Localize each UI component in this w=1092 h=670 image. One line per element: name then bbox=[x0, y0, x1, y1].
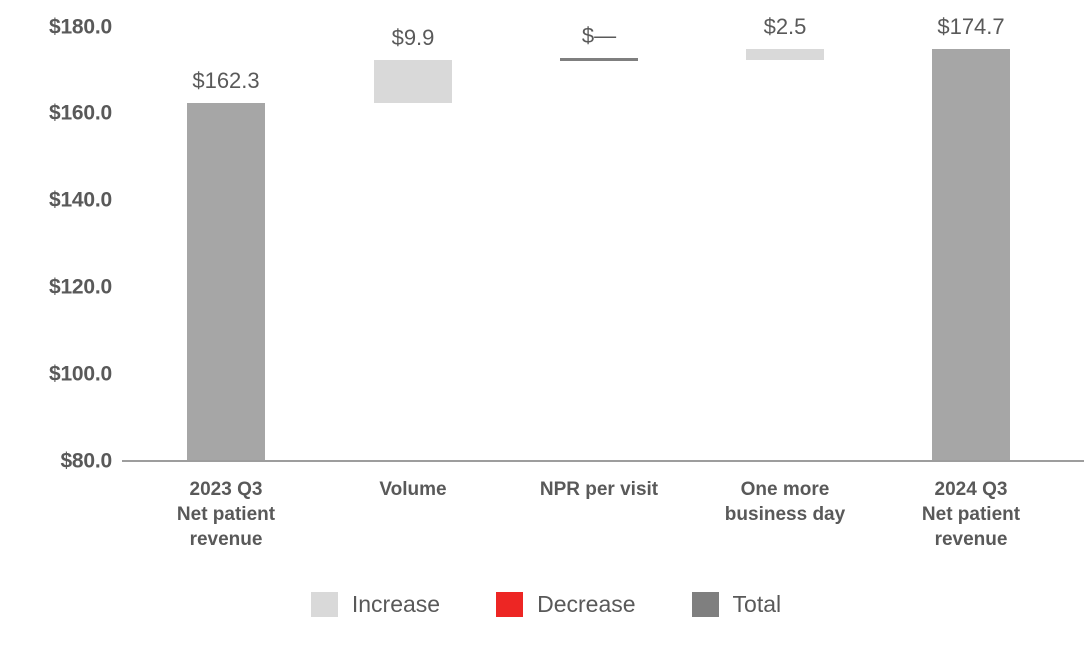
legend-item-total[interactable]: Total bbox=[692, 592, 782, 617]
legend-label-total: Total bbox=[733, 593, 782, 616]
bar-increase-volume[interactable] bbox=[374, 60, 452, 103]
bar-value-label-2023-q3: $162.3 bbox=[192, 70, 259, 92]
bar-value-label-2024-q3: $174.7 bbox=[937, 16, 1004, 38]
y-axis-tick-160: $160.0 bbox=[0, 103, 112, 124]
chart-legend: Increase Decrease Total bbox=[0, 592, 1092, 617]
bar-increase-one-more-business-day[interactable] bbox=[746, 49, 824, 60]
y-axis-tick-100: $100.0 bbox=[0, 364, 112, 385]
legend-swatch-increase-icon bbox=[311, 592, 338, 617]
waterfall-chart: $180.0 $160.0 $140.0 $120.0 $100.0 $80.0… bbox=[0, 0, 1092, 670]
y-axis-tick-140: $140.0 bbox=[0, 190, 112, 211]
x-axis-label-npr-per-visit: NPR per visit bbox=[499, 477, 699, 502]
legend-swatch-decrease-icon bbox=[496, 592, 523, 617]
legend-label-increase: Increase bbox=[352, 593, 440, 616]
legend-label-decrease: Decrease bbox=[537, 593, 635, 616]
bar-value-label-one-more-business-day: $2.5 bbox=[764, 16, 807, 38]
bar-zero-npr-per-visit[interactable] bbox=[560, 58, 638, 61]
x-axis-label-2023-q3: 2023 Q3 Net patient revenue bbox=[131, 477, 321, 552]
bar-value-label-npr-per-visit: $— bbox=[582, 25, 616, 47]
plot-area: $162.3 $9.9 $— $2.5 $174.7 bbox=[122, 0, 1090, 461]
bar-total-2024-q3[interactable] bbox=[932, 49, 1010, 460]
bar-total-2023-q3[interactable] bbox=[187, 103, 265, 460]
y-axis-tick-120: $120.0 bbox=[0, 277, 112, 298]
legend-item-decrease[interactable]: Decrease bbox=[496, 592, 635, 617]
y-axis-tick-180: $180.0 bbox=[0, 17, 112, 38]
x-axis-label-one-more-business-day: One more business day bbox=[685, 477, 885, 527]
y-axis-tick-80: $80.0 bbox=[0, 451, 112, 472]
x-axis-label-volume: Volume bbox=[318, 477, 508, 502]
legend-swatch-total-icon bbox=[692, 592, 719, 617]
legend-item-increase[interactable]: Increase bbox=[311, 592, 440, 617]
bar-value-label-volume: $9.9 bbox=[392, 27, 435, 49]
x-axis-label-2024-q3: 2024 Q3 Net patient revenue bbox=[876, 477, 1066, 552]
